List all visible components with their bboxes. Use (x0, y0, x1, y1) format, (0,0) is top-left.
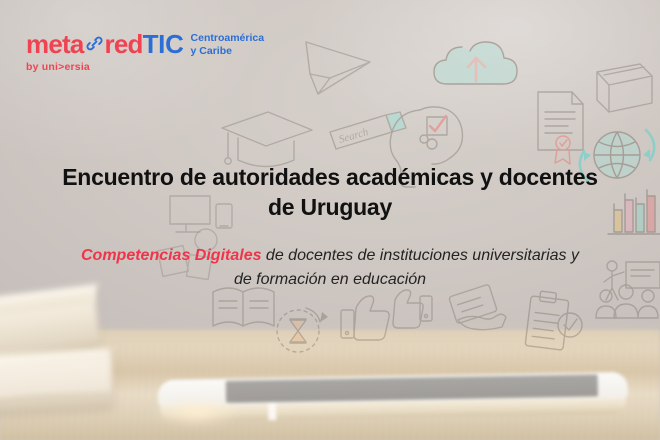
logo-word-tic: TIC (143, 31, 184, 57)
book-icon (597, 64, 652, 112)
headline-block: Encuentro de autoridades académicas y do… (0, 163, 660, 292)
subtitle-rest: de docentes de instituciones universitar… (234, 247, 579, 288)
certificate-icon (538, 92, 583, 164)
logo-word-red: red (105, 31, 143, 57)
logo-region-label: Centroamérica y Caribe (191, 32, 265, 58)
page-subtitle: Competencias Digitales de docentes de in… (46, 244, 614, 292)
page-title: Encuentro de autoridades académicas y do… (46, 163, 614, 223)
graduation-cap-icon (222, 112, 312, 167)
cloud-upload-icon (434, 42, 517, 84)
logo-wordmark-row: meta red TIC Centroamérica y Caribe (26, 31, 264, 58)
metaredtic-logo[interactable]: meta red TIC Centroamérica y Caribe by u… (26, 31, 264, 73)
clipboard-check-icon (525, 291, 582, 350)
hourglass-icon (277, 308, 328, 352)
open-book-icon (213, 288, 274, 326)
paper-plane-icon (306, 42, 370, 94)
logo-word-meta: meta (26, 31, 84, 57)
subtitle-accent: Competencias Digitales (81, 247, 262, 264)
logo-region-line2: y Caribe (191, 45, 232, 57)
logo-byline: by uni>ersia (26, 61, 264, 73)
link-chain-icon (85, 34, 104, 53)
presentation-slide: Search (0, 0, 660, 440)
logo-region-line1: Centroamérica (191, 32, 265, 44)
search-marker-icon: Search (330, 112, 406, 149)
thumbs-up-icon (341, 290, 432, 340)
